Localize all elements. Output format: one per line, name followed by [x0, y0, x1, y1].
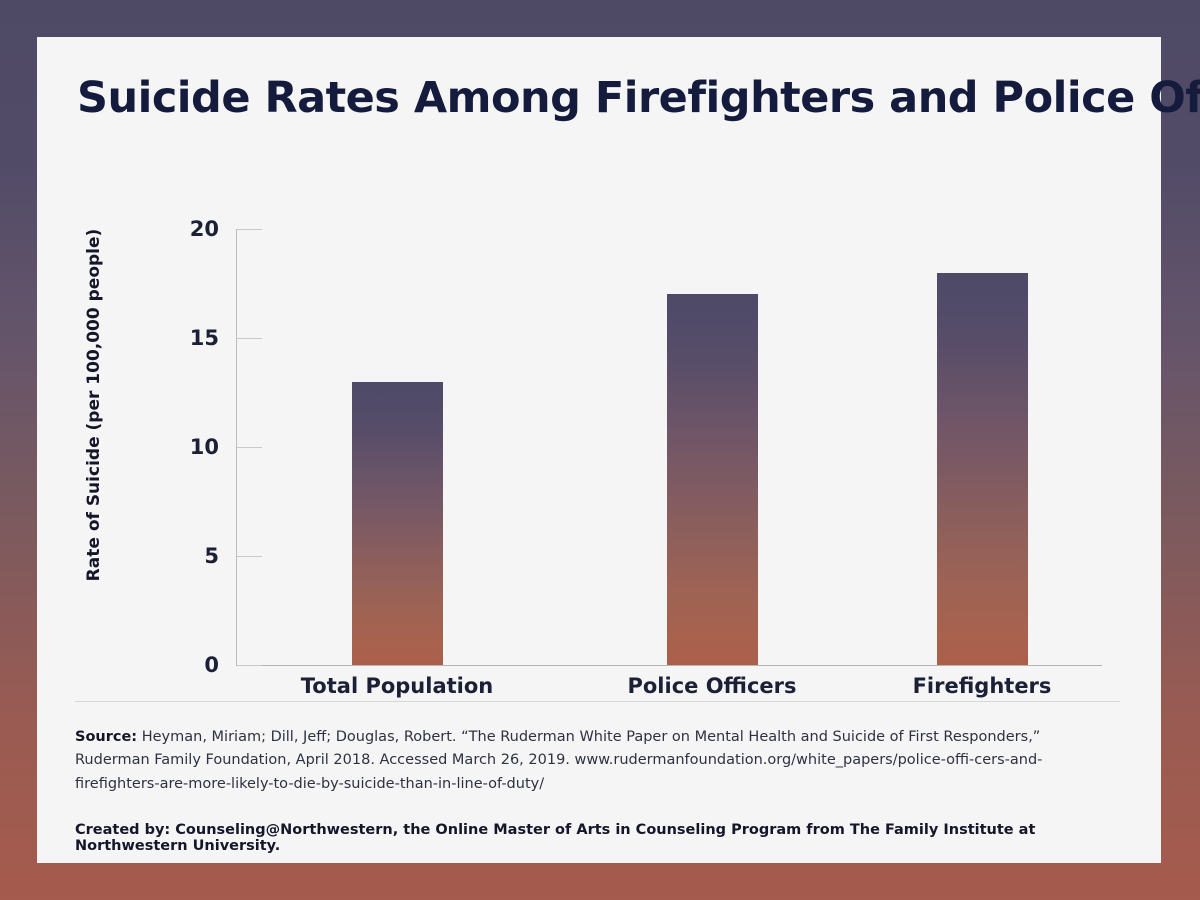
- bars-layer: [37, 177, 1161, 666]
- x-axis-tick-label: Total Population: [301, 674, 493, 698]
- source-label: Source:: [75, 729, 137, 745]
- chart-card: Suicide Rates Among Firefighters and Pol…: [37, 37, 1161, 863]
- footer-divider: [75, 701, 1120, 702]
- plot-area: Rate of Suicide (per 100,000 people) 051…: [37, 177, 1161, 707]
- footer: Source: Heyman, Miriam; Dill, Jeff; Doug…: [75, 701, 1125, 854]
- page-title: Suicide Rates Among Firefighters and Pol…: [77, 73, 1200, 123]
- bar: [667, 294, 758, 665]
- page-frame: Suicide Rates Among Firefighters and Pol…: [0, 0, 1200, 900]
- bar: [937, 273, 1028, 665]
- y-axis-tick-mark: [237, 338, 262, 339]
- x-axis-tick-label: Police Officers: [627, 674, 796, 698]
- source-citation: Source: Heyman, Miriam; Dill, Jeff; Doug…: [75, 726, 1087, 796]
- y-axis-tick-mark: [237, 556, 262, 557]
- y-axis-tick-mark: [237, 229, 262, 230]
- y-axis-tick-mark: [237, 665, 262, 666]
- x-axis-tick-label: Firefighters: [913, 674, 1052, 698]
- bar: [352, 382, 443, 665]
- created-by-line: Created by: Counseling@Northwestern, the…: [75, 822, 1125, 854]
- source-text: Heyman, Miriam; Dill, Jeff; Douglas, Rob…: [75, 729, 1042, 792]
- y-axis-tick-mark: [237, 447, 262, 448]
